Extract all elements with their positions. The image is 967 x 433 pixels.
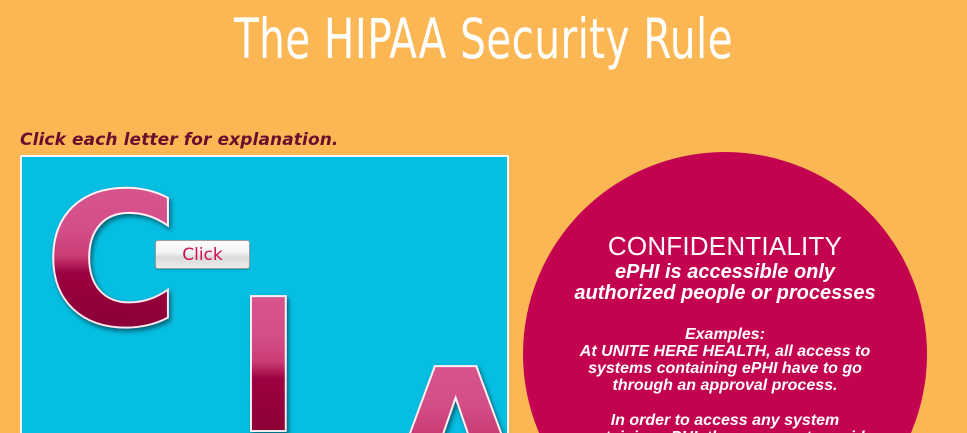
slide-canvas: The HIPAA Security Rule Click each lette… <box>0 0 967 433</box>
cia-letter-a[interactable]: A <box>384 345 509 433</box>
definition-circle: CONFIDENTIALITY ePHI is accessible only … <box>523 152 927 433</box>
definition-circle-content: CONFIDENTIALITY ePHI is accessible only … <box>523 232 927 433</box>
examples-label: Examples: <box>531 326 919 343</box>
definition-line-2: authorized people or processes <box>531 283 919 304</box>
page-title: The HIPAA Security Rule <box>87 2 880 76</box>
example-one-line-3: through an approval process. <box>531 377 919 394</box>
example-two-line-1: In order to access any system <box>531 412 919 429</box>
cia-letters-panel: C I A <box>20 155 509 433</box>
example-one-line-1: At UNITE HERE HEALTH, all access to <box>531 343 919 360</box>
example-one-line-2: systems containing ePHI have to go <box>531 360 919 377</box>
click-button[interactable]: Click <box>155 240 250 269</box>
example-two: In order to access any system containing… <box>531 412 919 433</box>
definition-heading: CONFIDENTIALITY <box>531 232 919 260</box>
definition-body: ePHI is accessible only authorized peopl… <box>531 262 919 304</box>
definition-line-1: ePHI is accessible only <box>531 262 919 283</box>
instruction-text: Click each letter for explanation. <box>20 130 338 150</box>
example-two-line-2: containing ePHI, the user must provide <box>531 429 919 433</box>
cia-letter-i[interactable]: I <box>234 275 303 433</box>
example-one: At UNITE HERE HEALTH, all access to syst… <box>531 343 919 394</box>
